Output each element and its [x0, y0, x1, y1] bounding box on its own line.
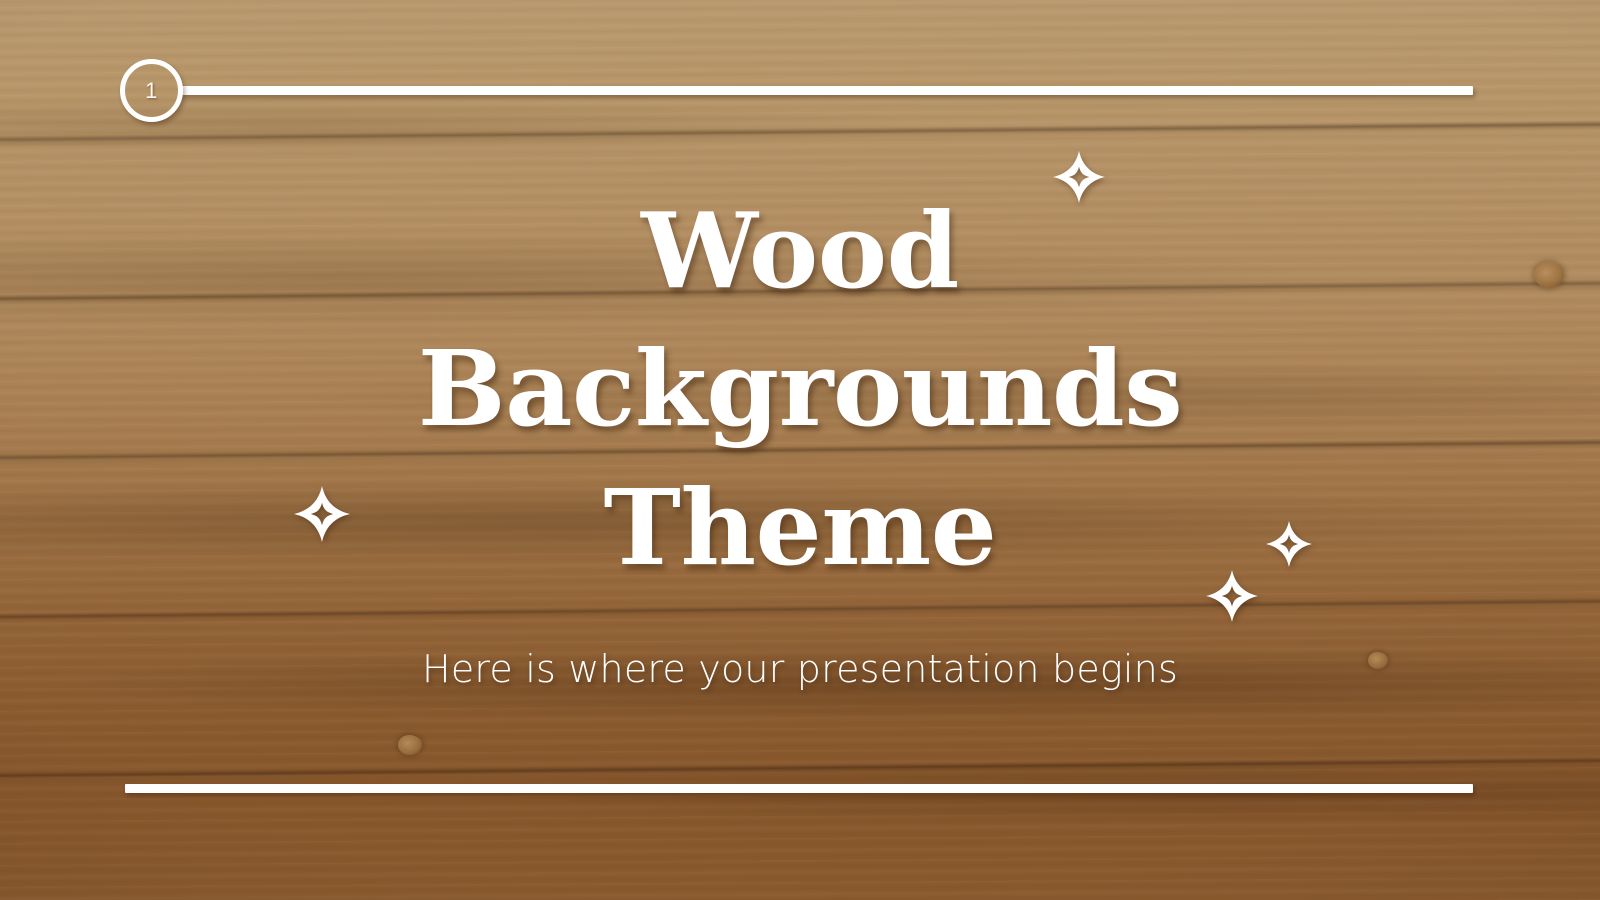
sparkle-mid-left-icon	[294, 486, 350, 542]
sparkle-top-right-icon	[1053, 151, 1105, 203]
presentation-slide: 1 Wood Backgrounds Theme Here is where y…	[0, 0, 1600, 900]
slide-number-badge: 1	[120, 59, 183, 122]
slide-subtitle: Here is where your presentation begins	[0, 597, 1600, 693]
page-title: Wood Backgrounds Theme	[0, 182, 1600, 597]
sparkle-right-lower-icon	[1206, 570, 1258, 622]
sparkle-right-upper-icon	[1266, 521, 1312, 567]
slide-content: Wood Backgrounds Theme Here is where you…	[0, 182, 1600, 693]
slide-number-label: 1	[145, 80, 158, 102]
footer-rule	[125, 784, 1473, 793]
header-rule	[180, 86, 1473, 95]
